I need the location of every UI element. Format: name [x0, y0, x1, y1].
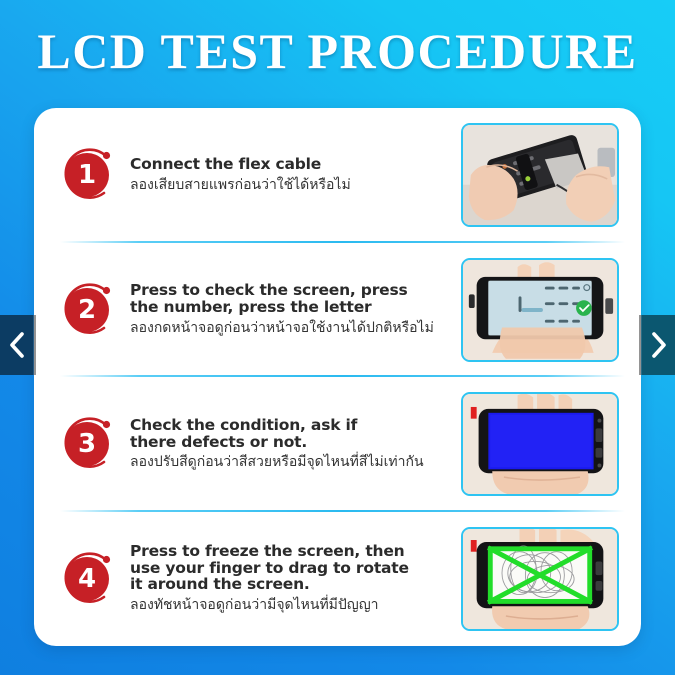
badge-number: 4: [65, 557, 109, 601]
step-badge: 1: [58, 145, 118, 205]
step-title-en: Connect the flex cable: [130, 156, 453, 173]
badge-number: 2: [65, 288, 109, 332]
poster-root: LCD TEST PROCEDURE 1 Connect the flex ca…: [0, 0, 675, 675]
step-text: Press to check the screen, press the num…: [130, 282, 461, 337]
chevron-left-icon: [8, 331, 26, 359]
step-thumbnail[interactable]: [461, 392, 619, 496]
step-badge: 4: [58, 549, 118, 609]
step-title-th: ลองปรับสีดูก่อนว่าสีสวยหรือมีจุดไหนที่สี…: [130, 454, 453, 472]
step-text: Check the condition, ask if there defect…: [130, 417, 461, 472]
steps-list: 1 Connect the flex cable ลองเสียบสายแพรก…: [34, 108, 641, 646]
step-row: 3 Check the condition, ask if there defe…: [34, 377, 641, 512]
step-row: 4 Press to freeze the screen, then use y…: [34, 512, 641, 647]
prev-arrow-button[interactable]: [0, 315, 33, 375]
chevron-right-icon: [650, 331, 668, 359]
step-title-th: ลองเสียบสายแพรก่อนว่าใช้ได้หรือไม่: [130, 177, 453, 195]
steps-card: 1 Connect the flex cable ลองเสียบสายแพรก…: [34, 108, 641, 646]
badge-number: 1: [65, 153, 109, 197]
step-thumbnail[interactable]: [461, 258, 619, 362]
step-text: Connect the flex cable ลองเสียบสายแพรก่อ…: [130, 156, 461, 194]
step-row: 1 Connect the flex cable ลองเสียบสายแพรก…: [34, 108, 641, 243]
step-title-th: ลองทัชหน้าจอดูก่อนว่ามีจุดไหนที่มีปัญญา: [130, 597, 453, 615]
step-title-en: Press to check the screen, press the num…: [130, 282, 453, 315]
step-title-en: Press to freeze the screen, then use you…: [130, 543, 453, 593]
step-thumbnail[interactable]: [461, 527, 619, 631]
blue-screen-photo-icon: [463, 394, 617, 494]
step-title-th: ลองกดหน้าจอดูก่อนว่าหน้าจอใช้งานได้ปกติห…: [130, 320, 453, 338]
phone-keypad-photo-icon: [463, 260, 617, 360]
step-badge: 3: [58, 414, 118, 474]
step-badge: 2: [58, 280, 118, 340]
badge-number: 3: [65, 422, 109, 466]
step-title-en: Check the condition, ask if there defect…: [130, 417, 453, 450]
next-arrow-button[interactable]: [642, 315, 675, 375]
page-title: LCD TEST PROCEDURE: [0, 22, 675, 80]
step-thumbnail[interactable]: [461, 123, 619, 227]
touch-test-photo-icon: [463, 529, 617, 629]
step-text: Press to freeze the screen, then use you…: [130, 543, 461, 615]
flex-cable-photo-icon: [463, 125, 617, 225]
step-row: 2 Press to check the screen, press the n…: [34, 243, 641, 378]
